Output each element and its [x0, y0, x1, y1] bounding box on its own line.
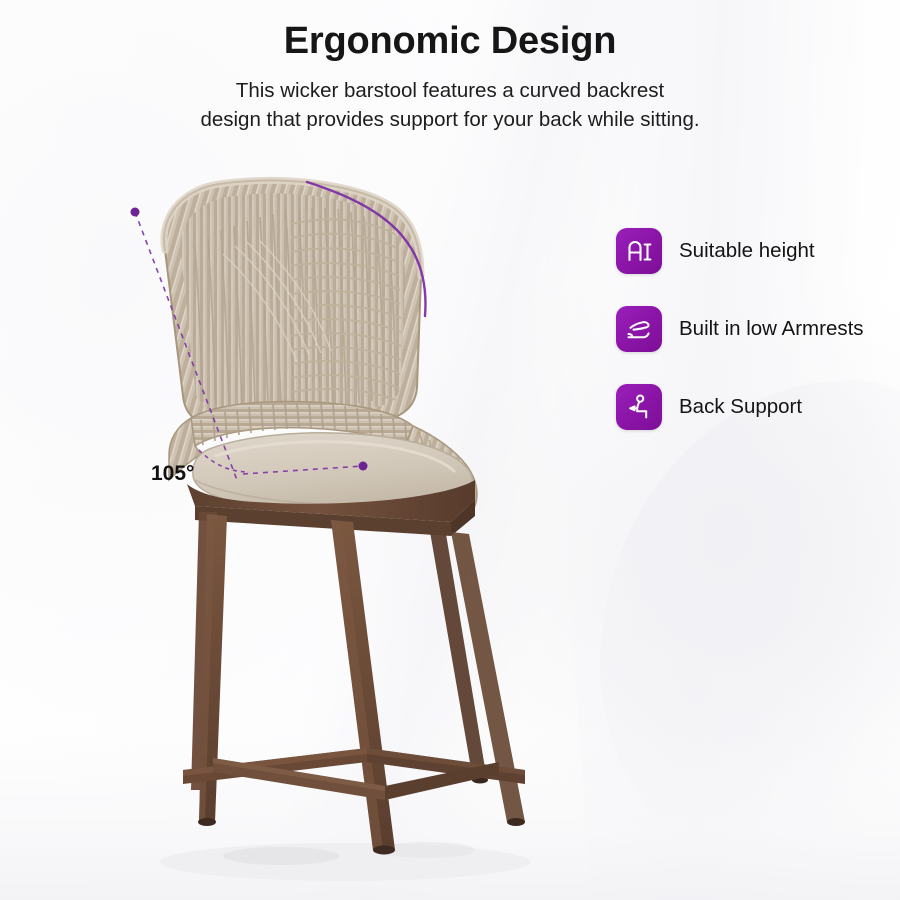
infographic-page: Ergonomic Design This wicker barstool fe…: [0, 0, 900, 900]
annotation-dot-top: [131, 208, 140, 217]
angle-label: 105°: [151, 462, 194, 485]
height-measure-icon: [616, 228, 662, 274]
feature-item-back-support: Back Support: [616, 384, 896, 430]
seated-person-back-support-icon: [616, 384, 662, 430]
feature-label-back-support: Back Support: [679, 397, 802, 418]
annotation-dot-right: [359, 462, 368, 471]
feature-label-low-armrests: Built in low Armrests: [679, 319, 864, 340]
page-subtitle: This wicker barstool features a curved b…: [0, 76, 900, 134]
feature-item-low-armrests: Built in low Armrests: [616, 306, 896, 352]
feature-item-suitable-height: Suitable height: [616, 228, 896, 274]
feature-list: Suitable height Built in low Armrests: [616, 228, 896, 430]
page-title: Ergonomic Design: [0, 22, 900, 62]
subtitle-line-2: design that provides support for your ba…: [0, 105, 900, 134]
header: Ergonomic Design This wicker barstool fe…: [0, 22, 900, 134]
background-soft-arc: [600, 380, 900, 900]
subtitle-line-1: This wicker barstool features a curved b…: [0, 76, 900, 105]
product-image-barstool: 105°: [95, 150, 615, 890]
armrest-icon: [616, 306, 662, 352]
barstool-legs: [191, 512, 525, 855]
feature-label-suitable-height: Suitable height: [679, 241, 815, 262]
